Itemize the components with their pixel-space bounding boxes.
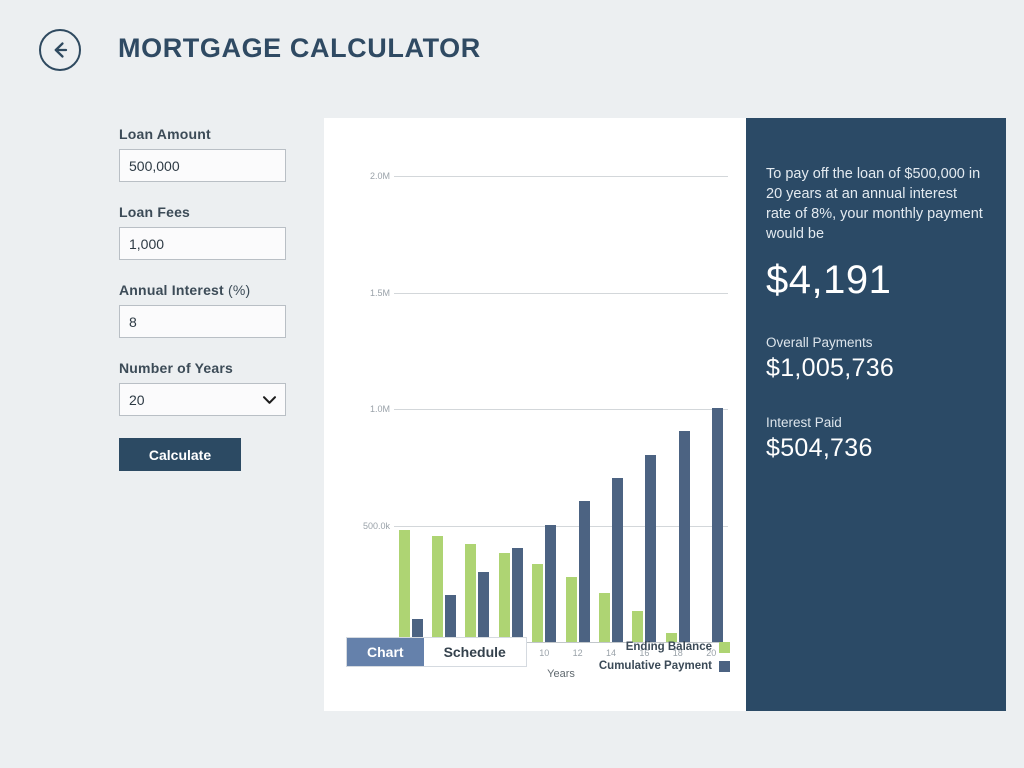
calculate-button[interactable]: Calculate: [119, 438, 241, 471]
bar-cumulative-payment: [478, 572, 489, 642]
loan-amount-label: Loan Amount: [119, 126, 309, 142]
results-summary: To pay off the loan of $500,000 in 20 ye…: [766, 164, 984, 244]
chevron-down-icon: [262, 392, 277, 408]
legend-label-cumulative-payment: Cumulative Payment: [599, 660, 712, 672]
bar-group: [465, 176, 489, 642]
bar-cumulative-payment: [645, 455, 656, 642]
interest-paid-label: Interest Paid: [766, 415, 984, 430]
plot-area: -500.0k1.0M1.5M2.0M: [394, 176, 728, 642]
bar-ending-balance: [499, 553, 510, 642]
number-of-years-value: 20: [129, 392, 145, 408]
legend-label-ending-balance: Ending Balance: [626, 641, 712, 653]
bar-group: [666, 176, 690, 642]
number-of-years-label-text: Number of Years: [119, 360, 233, 376]
bar-cumulative-payment: [579, 501, 590, 642]
chart-schedule-tabs: Chart Schedule: [346, 637, 527, 667]
bar-cumulative-payment: [612, 478, 623, 642]
bar-series: [394, 176, 728, 642]
bar-cumulative-payment: [545, 525, 556, 642]
annual-interest-label-text: Annual Interest: [119, 282, 228, 298]
interest-paid-value: $504,736: [766, 434, 984, 463]
legend-item-ending-balance: Ending Balance: [540, 641, 730, 653]
page-title: MORTGAGE CALCULATOR: [118, 33, 481, 64]
y-axis-tick: 2.0M: [370, 171, 390, 181]
overall-payments-label: Overall Payments: [766, 335, 984, 350]
bar-cumulative-payment: [445, 595, 456, 642]
bar-cumulative-payment: [512, 548, 523, 642]
loan-fees-label-text: Loan Fees: [119, 204, 190, 220]
number-of-years-label: Number of Years: [119, 360, 309, 376]
bar-ending-balance: [532, 564, 543, 642]
number-of-years-select[interactable]: 20: [119, 383, 286, 416]
bar-group: [532, 176, 556, 642]
tab-schedule[interactable]: Schedule: [424, 638, 526, 666]
bar-group: [432, 176, 456, 642]
annual-interest-label: Annual Interest (%): [119, 282, 309, 298]
loan-amount-value: 500,000: [129, 158, 180, 174]
chart-card: -500.0k1.0M1.5M2.0M 2468101214161820 Yea…: [324, 118, 746, 711]
bar-group: [499, 176, 523, 642]
legend-swatch-ending-balance: [719, 642, 730, 653]
results-panel: To pay off the loan of $500,000 in 20 ye…: [746, 118, 1006, 711]
bar-cumulative-payment: [679, 431, 690, 642]
loan-fees-label: Loan Fees: [119, 204, 309, 220]
y-axis-tick: 500.0k: [363, 521, 390, 531]
chart-plot: -500.0k1.0M1.5M2.0M 2468101214161820 Yea…: [394, 176, 728, 702]
y-axis-tick: 1.5M: [370, 288, 390, 298]
bar-ending-balance: [432, 536, 443, 642]
bar-ending-balance: [566, 577, 577, 642]
bar-ending-balance: [632, 611, 643, 642]
app-header: MORTGAGE CALCULATOR: [0, 0, 1024, 100]
bar-group: [699, 176, 723, 642]
loan-amount-label-text: Loan Amount: [119, 126, 211, 142]
bar-group: [599, 176, 623, 642]
loan-amount-input[interactable]: 500,000: [119, 149, 286, 182]
annual-interest-value: 8: [129, 314, 137, 330]
tab-chart[interactable]: Chart: [347, 638, 424, 666]
bar-ending-balance: [465, 544, 476, 642]
legend-item-cumulative-payment: Cumulative Payment: [540, 660, 730, 672]
annual-interest-unit: (%): [228, 282, 250, 298]
bar-group: [632, 176, 656, 642]
y-axis-tick: 1.0M: [370, 404, 390, 414]
calculator-form: Loan Amount 500,000 Loan Fees 1,000 Annu…: [119, 126, 309, 471]
chart-legend: Ending Balance Cumulative Payment: [540, 641, 730, 679]
monthly-payment-value: $4,191: [766, 258, 984, 303]
loan-fees-input[interactable]: 1,000: [119, 227, 286, 260]
bar-group: [566, 176, 590, 642]
overall-payments-value: $1,005,736: [766, 354, 984, 383]
bar-ending-balance: [599, 593, 610, 642]
bar-ending-balance: [399, 530, 410, 642]
back-arrow-circle-icon[interactable]: [39, 29, 81, 71]
annual-interest-input[interactable]: 8: [119, 305, 286, 338]
loan-fees-value: 1,000: [129, 236, 164, 252]
bar-group: [399, 176, 423, 642]
bar-cumulative-payment: [712, 408, 723, 642]
legend-swatch-cumulative-payment: [719, 661, 730, 672]
